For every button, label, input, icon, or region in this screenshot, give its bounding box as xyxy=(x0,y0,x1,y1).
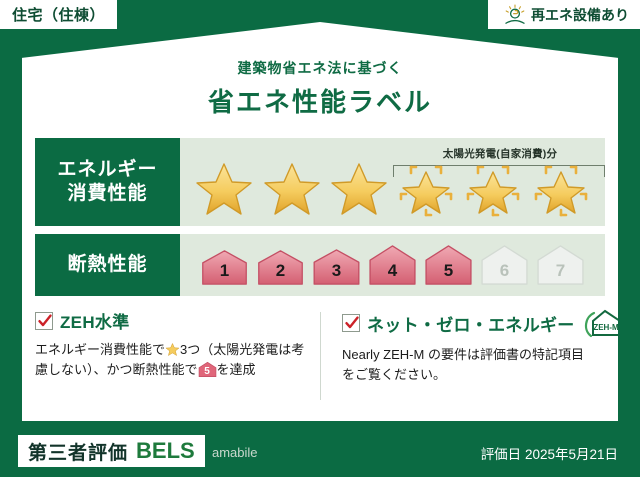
star-icon xyxy=(193,158,255,218)
zeh-m-sub-line1: Nearly xyxy=(631,318,640,324)
insulation-level: 7 xyxy=(534,244,587,286)
label-card: 建築物省エネ法に基づく 省エネ性能ラベル エネルギー 消費性能 太陽光発電(自家… xyxy=(22,22,618,421)
insulation-label-text: 断熱性能 xyxy=(67,253,147,277)
net-zero-checkbox xyxy=(342,314,360,332)
bels-badge: 第三者評価 BELS xyxy=(18,435,205,467)
net-zero-block: ネット・ゼロ・エネルギー ZEH-M Nearly ZEH-M Nearly Z… xyxy=(320,308,605,408)
insulation-level-number: 4 xyxy=(366,262,419,279)
energy-star-rating xyxy=(180,138,605,226)
energy-row-label: エネルギー 消費性能 xyxy=(35,138,180,226)
insulation-level: 3 xyxy=(310,248,363,286)
svg-text:ZEH-M: ZEH-M xyxy=(593,323,619,332)
zeh-heading: ZEH水準 xyxy=(35,308,310,333)
insulation-level: 2 xyxy=(254,249,307,286)
insulation-level-number: 6 xyxy=(478,262,531,279)
zeh-title: ZEH水準 xyxy=(60,308,130,333)
insulation-level: 6 xyxy=(478,244,531,286)
insulation-level: 1 xyxy=(198,249,251,286)
energy-label-line2: 消費性能 xyxy=(67,182,147,206)
insulation-level-scale: 1 2 3 xyxy=(180,234,605,296)
house-type-tag: 住宅（住棟） xyxy=(0,0,117,29)
zeh-checkbox xyxy=(35,312,53,330)
insulation-level-number: 3 xyxy=(310,262,363,279)
insulation-row-body: 1 2 3 xyxy=(180,234,605,296)
star-icon-solar xyxy=(530,158,592,218)
bels-jp-label: 第三者評価 xyxy=(28,438,128,465)
insulation-level-number: 2 xyxy=(254,262,307,279)
insulation-level-number: 7 xyxy=(534,262,587,279)
renewable-equipment-text: 再エネ設備あり xyxy=(531,5,629,25)
zeh-text-part1: エネルギー消費性能で xyxy=(35,342,165,357)
net-zero-description: Nearly ZEH-M の要件は評価書の特記項目をご覧ください。 xyxy=(342,345,595,385)
insulation-level-number: 5 xyxy=(422,262,475,279)
star-icon xyxy=(328,158,390,218)
insulation-level: 4 xyxy=(366,244,419,286)
zeh-description: エネルギー消費性能で3つ（太陽光発電は考慮しない）、かつ断熱性能で5を達成 xyxy=(35,340,310,380)
insulation-badge-number: 5 xyxy=(198,367,217,377)
energy-performance-row: エネルギー 消費性能 太陽光発電(自家消費)分 xyxy=(35,138,605,226)
title-block: 建築物省エネ法に基づく 省エネ性能ラベル xyxy=(22,58,618,119)
insulation-level-number: 1 xyxy=(198,262,251,279)
star-icon-solar xyxy=(395,158,457,218)
renewable-equipment-tag: 再エネ設備あり xyxy=(488,0,640,29)
zeh-criteria-block: ZEH水準 エネルギー消費性能で3つ（太陽光発電は考慮しない）、かつ断熱性能で5… xyxy=(35,308,320,408)
footer-bar: 第三者評価 BELS amabile 評価日 2025年5月21日 xyxy=(0,426,640,477)
star-icon-inline xyxy=(165,342,180,357)
zeh-text-part2: 3つ（太陽光発電 xyxy=(180,342,278,357)
net-zero-heading: ネット・ゼロ・エネルギー ZEH-M Nearly ZEH-M xyxy=(342,308,595,338)
zeh-m-logo-sublabel: Nearly ZEH-M xyxy=(631,319,640,336)
insulation-level: 5 xyxy=(422,244,475,286)
zeh-m-sub-line2: ZEH-M xyxy=(631,323,640,335)
zeh-m-logo-icon: ZEH-M xyxy=(582,308,624,338)
star-icon xyxy=(261,158,323,218)
title-subtitle: 建築物省エネ法に基づく xyxy=(22,58,618,78)
net-zero-title: ネット・ゼロ・エネルギー xyxy=(367,311,575,336)
brand-name: amabile xyxy=(212,445,258,460)
page-title: 省エネ性能ラベル xyxy=(22,82,618,119)
sun-icon xyxy=(503,4,527,26)
star-icon-solar xyxy=(462,158,524,218)
zeh-text-part4: を達成 xyxy=(217,362,256,377)
evaluation-date: 評価日 2025年5月21日 xyxy=(481,443,618,463)
energy-row-body: 太陽光発電(自家消費)分 xyxy=(180,138,605,226)
house-type-text: 住宅（住棟） xyxy=(12,4,105,25)
insulation-performance-row: 断熱性能 1 xyxy=(35,234,605,296)
energy-label-line1: エネルギー xyxy=(57,158,157,182)
criteria-section: ZEH水準 エネルギー消費性能で3つ（太陽光発電は考慮しない）、かつ断熱性能で5… xyxy=(35,308,605,408)
insulation-badge-inline: 5 xyxy=(198,361,217,378)
energy-performance-label: 住宅（住棟） 再エネ設備あり 建築物省エネ法に基づく 省エネ性能ラベル xyxy=(0,0,640,477)
bels-en-label: BELS xyxy=(136,438,195,464)
insulation-row-label: 断熱性能 xyxy=(35,234,180,296)
